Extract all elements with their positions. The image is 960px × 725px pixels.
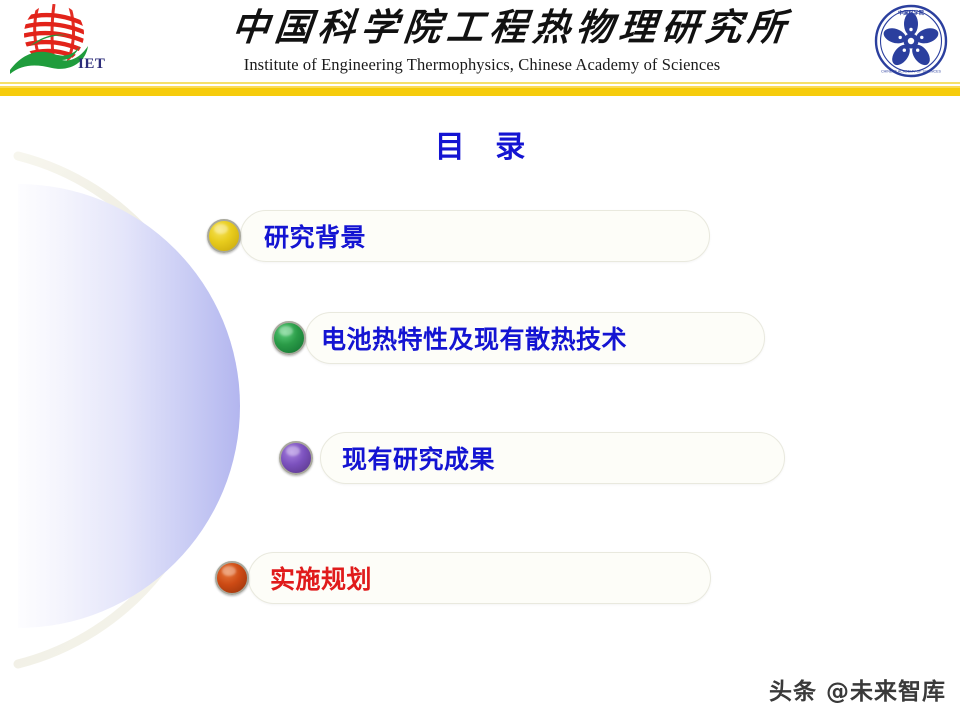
page-title: 目 录 (0, 122, 960, 166)
toc-item[interactable]: 研究背景 (240, 210, 710, 262)
header-rule-thin (0, 82, 960, 84)
watermark-text: 头条 @未来智库 (769, 672, 946, 706)
svg-text:中国科学院: 中国科学院 (898, 9, 925, 17)
toc-item[interactable]: 实施规划 (248, 552, 711, 604)
institute-name-cn: 中国科学院工程热物理研究所 (229, 2, 734, 52)
iet-acronym: IET (78, 56, 105, 73)
toc-item[interactable]: 电池热特性及现有散热技术 (305, 312, 765, 364)
toc-item-label: 实施规划 (270, 560, 372, 596)
slide-content: 目 录 (0, 96, 960, 720)
purple-bullet-icon (279, 441, 313, 475)
toc-item-label: 现有研究成果 (342, 440, 495, 476)
institute-name-en: Institute of Engineering Thermophysics, … (232, 54, 732, 76)
presentation-slide: IET 中国科学院工程热物理研究所 Institute of Engineeri… (0, 0, 960, 720)
toc-item[interactable]: 现有研究成果 (320, 432, 785, 484)
slide-header: IET 中国科学院工程热物理研究所 Institute of Engineeri… (0, 0, 960, 86)
decorative-semicircle (0, 96, 360, 720)
cas-emblem-logo: 中国科学院 CHINESE ACADEMY OF SCIENCES (874, 4, 948, 78)
green-bullet-icon (272, 321, 306, 355)
toc-item-label: 研究背景 (264, 218, 366, 254)
iet-globe-logo: IET (8, 2, 138, 82)
orange-bullet-icon (215, 561, 249, 595)
svg-text:CHINESE ACADEMY OF SCIENCES: CHINESE ACADEMY OF SCIENCES (881, 70, 941, 74)
header-rule-thick (0, 86, 960, 96)
institute-title-block: 中国科学院工程热物理研究所 Institute of Engineering T… (232, 2, 732, 76)
gold-bullet-icon (207, 219, 241, 253)
toc-item-label: 电池热特性及现有散热技术 (321, 320, 627, 356)
